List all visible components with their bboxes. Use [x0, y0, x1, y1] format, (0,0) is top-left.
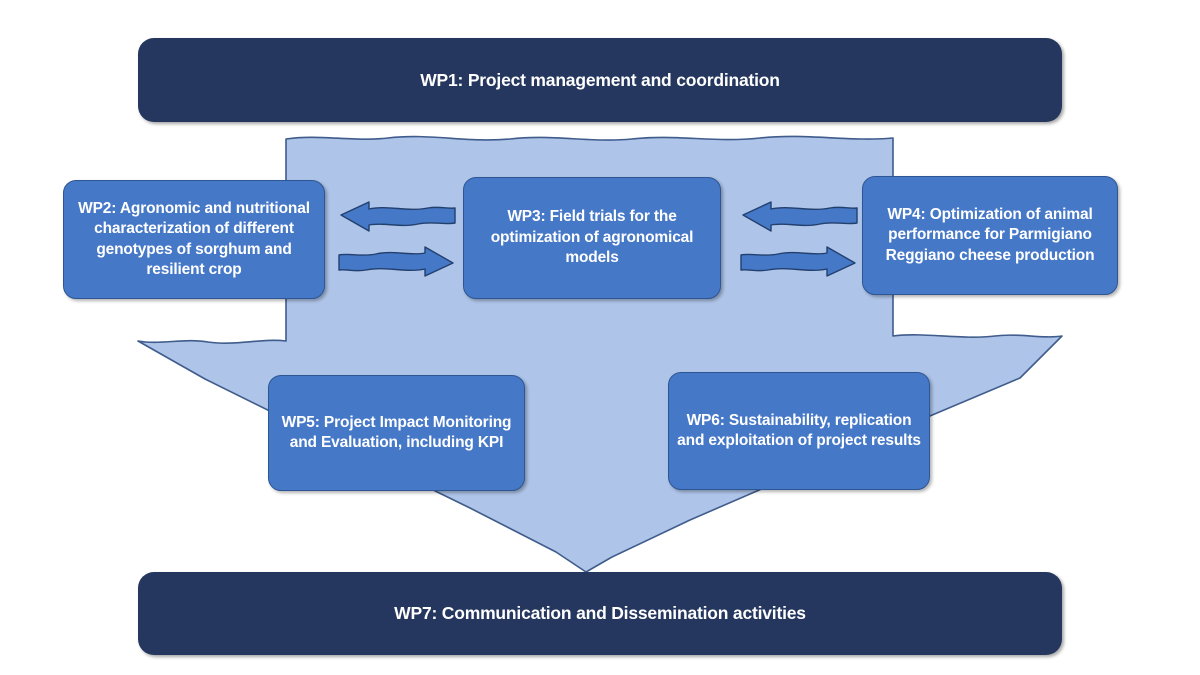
wp5-box[interactable]: WP5: Project Impact Monitoring and Evalu… [268, 375, 525, 491]
wp3-label: WP3: Field trials for the optimization o… [464, 207, 720, 268]
arrow-right-icon [339, 247, 453, 276]
wp5-label: WP5: Project Impact Monitoring and Evalu… [269, 413, 524, 454]
arrow-right-icon [741, 247, 855, 276]
wp1-label: WP1: Project management and coordination [420, 70, 780, 91]
wp2-label: WP2: Agronomic and nutritional character… [64, 199, 324, 281]
wp1-bar[interactable]: WP1: Project management and coordination [138, 38, 1062, 122]
connector-wp3-wp4 [738, 199, 860, 279]
arrow-left-icon [341, 202, 455, 231]
wp2-box[interactable]: WP2: Agronomic and nutritional character… [63, 180, 325, 299]
wp6-label: WP6: Sustainability, replication and exp… [669, 411, 929, 452]
wp3-box[interactable]: WP3: Field trials for the optimization o… [463, 177, 721, 299]
arrow-left-icon [743, 202, 857, 231]
wp4-box[interactable]: WP4: Optimization of animal performance … [862, 176, 1118, 295]
wp4-label: WP4: Optimization of animal performance … [863, 205, 1117, 266]
connector-wp2-wp3 [336, 199, 458, 279]
wp7-bar[interactable]: WP7: Communication and Dissemination act… [138, 572, 1062, 655]
wp7-label: WP7: Communication and Dissemination act… [394, 603, 806, 624]
workpackage-diagram: WP1: Project management and coordination… [0, 0, 1200, 675]
wp6-box[interactable]: WP6: Sustainability, replication and exp… [668, 372, 930, 490]
